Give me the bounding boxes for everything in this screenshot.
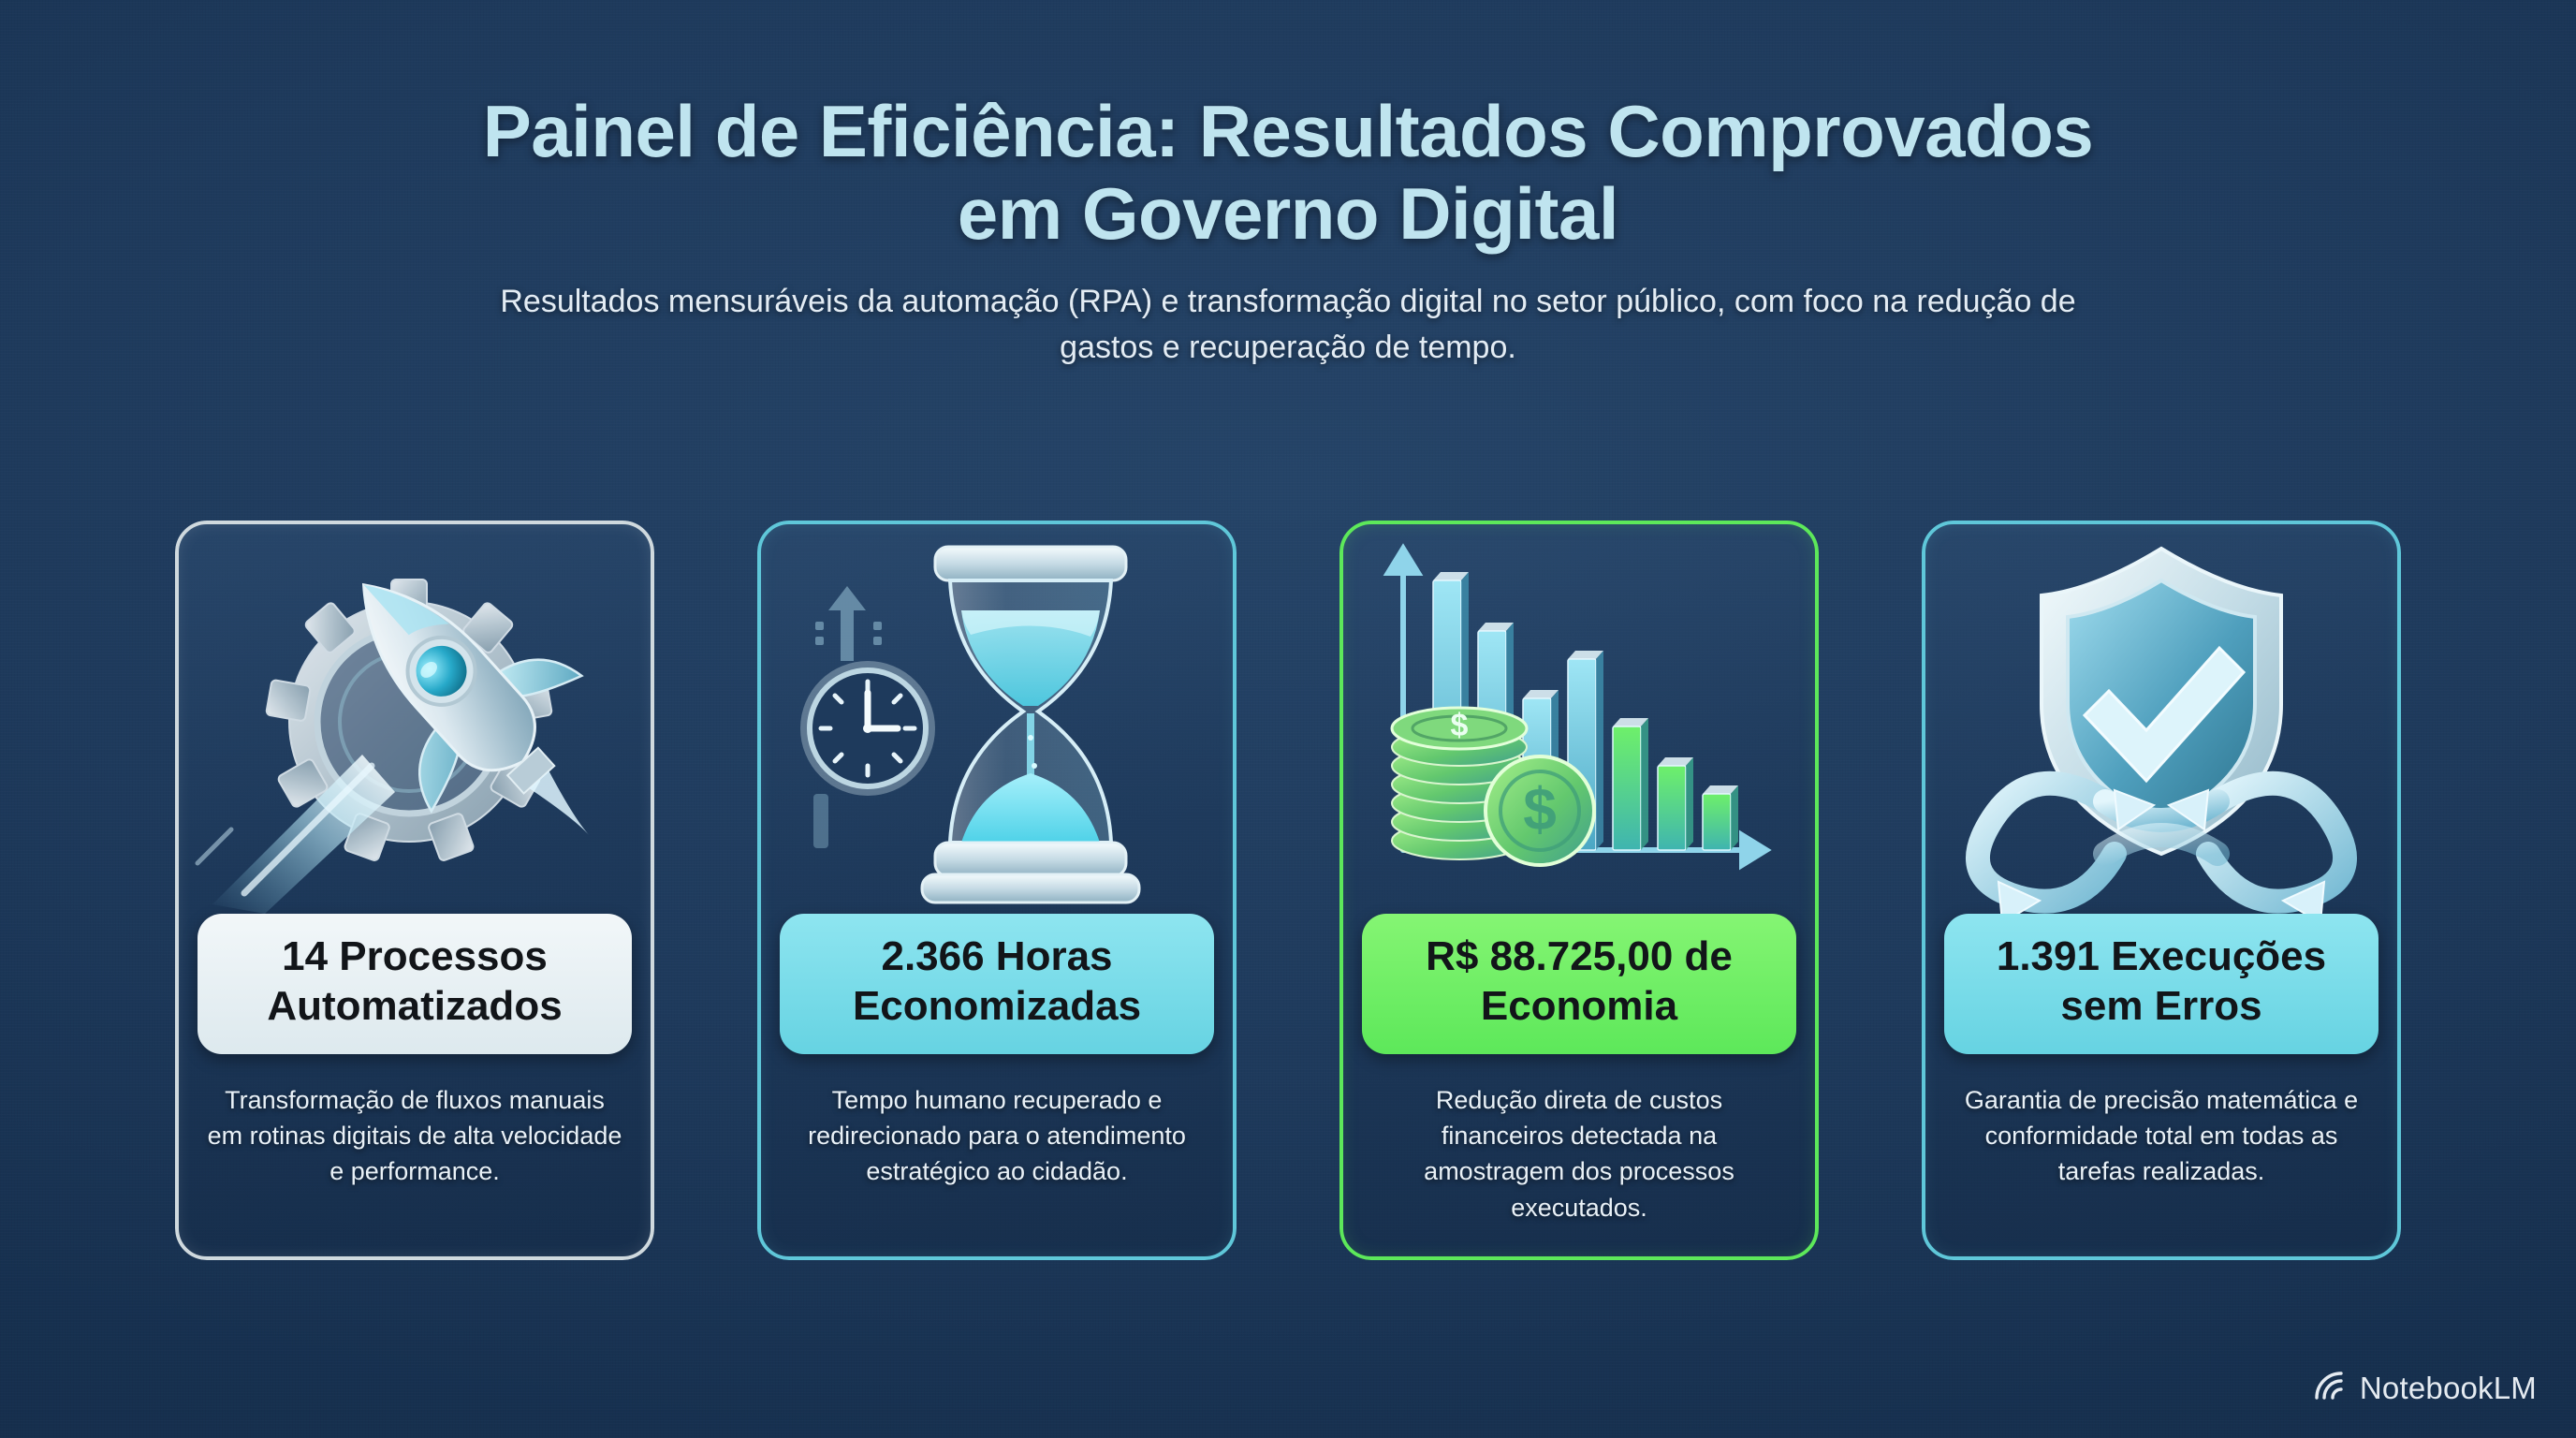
metric-description: Garantia de precisão matemática e confor… [1922,1082,2401,1190]
page-title: Painel de Eficiência: Resultados Comprov… [464,90,2112,255]
metric-value: 1.391 Execuções sem Erros [1944,914,2378,1054]
metric-card-economia[interactable]: $ $ R$ 88.725,00 de Economia Redução dir… [1339,521,1819,1260]
metric-pill-wrap: 14 Processos Automatizados [175,914,654,1054]
chart-bar [1658,766,1686,850]
page-subtitle: Resultados mensuráveis da automação (RPA… [464,279,2112,370]
metric-card-processos[interactable]: 14 Processos Automatizados Transformação… [175,521,654,1260]
coins-bar-chart-icon: $ $ [1339,521,1819,914]
metric-card-list: 14 Processos Automatizados Transformação… [0,521,2576,1260]
shield-check-loop-icon [1922,521,2401,914]
chart-bar [1703,794,1731,850]
notebooklm-watermark: NotebookLM [2313,1370,2537,1406]
svg-text:$: $ [1451,708,1469,743]
chart-bar [1613,726,1641,850]
infographic-canvas: Painel de Eficiência: Resultados Comprov… [0,0,2576,1438]
metric-card-horas[interactable]: 2.366 Horas Economizadas Tempo humano re… [757,521,1237,1260]
notebooklm-label: NotebookLM [2360,1371,2537,1406]
metric-value: 14 Processos Automatizados [198,914,632,1054]
notebooklm-swirl-icon [2313,1370,2349,1406]
header: Painel de Eficiência: Resultados Comprov… [0,90,2576,370]
rocket-gear-icon [175,521,654,914]
metric-value: 2.366 Horas Economizadas [780,914,1214,1054]
metric-card-execucoes[interactable]: 1.391 Execuções sem Erros Garantia de pr… [1922,521,2401,1260]
metric-description: Transformação de fluxos manuais em rotin… [175,1082,654,1190]
metric-pill-wrap: 2.366 Horas Economizadas [757,914,1237,1054]
metric-pill-wrap: R$ 88.725,00 de Economia [1339,914,1819,1054]
svg-text:$: $ [1523,775,1557,843]
metric-description: Tempo humano recuperado e redirecionado … [757,1082,1237,1190]
metric-description: Redução direta de custos financeiros det… [1339,1082,1819,1225]
metric-value: R$ 88.725,00 de Economia [1362,914,1796,1054]
metric-pill-wrap: 1.391 Execuções sem Erros [1922,914,2401,1054]
hourglass-clock-icon [757,521,1237,914]
